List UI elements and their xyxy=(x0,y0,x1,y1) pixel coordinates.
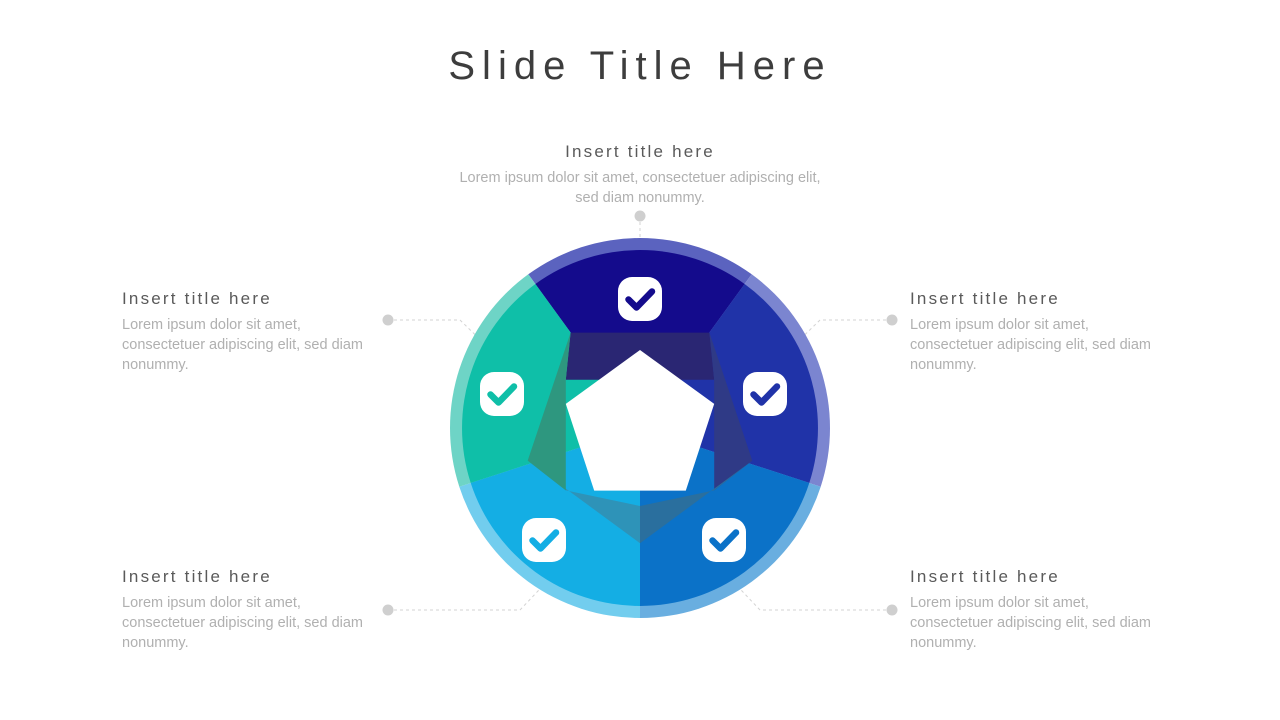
connector-dot-left-top xyxy=(383,315,394,326)
bevel-left xyxy=(528,333,571,491)
segment-top[interactable] xyxy=(535,250,744,428)
connector-line-left-top xyxy=(394,320,497,356)
page-title: Slide Title Here xyxy=(0,44,1280,89)
callout-left-bottom: Insert title here Lorem ipsum dolor sit … xyxy=(122,567,367,653)
callout-right-bottom-body: Lorem ipsum dolor sit amet, consectetuer… xyxy=(910,593,1160,653)
bevel-bottom-right xyxy=(640,461,752,544)
callout-left-top-title: Insert title here xyxy=(122,289,367,309)
inner-pentagon-hole xyxy=(566,350,714,491)
pie-segments xyxy=(462,250,818,606)
bevel-top xyxy=(566,333,714,380)
connector-dot-left-bottom xyxy=(383,605,394,616)
callout-left-bottom-title: Insert title here xyxy=(122,567,367,587)
icon-badge-bottom-right[interactable] xyxy=(702,518,746,562)
bevel-bottom-left xyxy=(528,461,640,544)
ring-right xyxy=(640,274,830,486)
outer-ring xyxy=(450,238,830,618)
ring-bottom-left xyxy=(459,428,640,618)
callout-top-title: Insert title here xyxy=(440,142,840,162)
connector-lines xyxy=(394,222,886,610)
callout-right-bottom-title: Insert title here xyxy=(910,567,1160,587)
inner-bevel xyxy=(528,333,753,544)
bevel-right xyxy=(709,333,752,491)
check-icon xyxy=(713,533,737,549)
connector-line-right-bottom xyxy=(724,572,886,610)
connector-dot-right-top xyxy=(887,315,898,326)
callout-left-top-body: Lorem ipsum dolor sit amet, consectetuer… xyxy=(122,315,367,375)
connector-line-left-bottom xyxy=(394,572,556,610)
check-icon xyxy=(533,533,557,549)
callout-right-top-title: Insert title here xyxy=(910,289,1160,309)
segment-right[interactable] xyxy=(640,284,818,483)
segment-bottom-left[interactable] xyxy=(471,428,640,606)
callout-top-body: Lorem ipsum dolor sit amet, consectetuer… xyxy=(440,168,840,208)
check-icon xyxy=(629,292,653,308)
segment-icons xyxy=(480,277,787,562)
connector-dots xyxy=(383,211,898,616)
segment-left[interactable] xyxy=(462,284,640,483)
callout-left-bottom-body: Lorem ipsum dolor sit amet, consectetuer… xyxy=(122,593,367,653)
icon-badge-left[interactable] xyxy=(480,372,524,416)
connector-dot-right-bottom xyxy=(887,605,898,616)
icon-badge-top[interactable] xyxy=(618,277,662,321)
callout-right-top: Insert title here Lorem ipsum dolor sit … xyxy=(910,289,1160,375)
callout-right-bottom: Insert title here Lorem ipsum dolor sit … xyxy=(910,567,1160,653)
callout-right-top-body: Lorem ipsum dolor sit amet, consectetuer… xyxy=(910,315,1160,375)
ring-top xyxy=(528,238,751,428)
callout-top: Insert title here Lorem ipsum dolor sit … xyxy=(440,142,840,208)
connector-dot-top xyxy=(635,211,646,222)
icon-badge-bottom-left[interactable] xyxy=(522,518,566,562)
icon-badge-right[interactable] xyxy=(743,372,787,416)
connector-line-right-top xyxy=(783,320,886,356)
ring-left xyxy=(450,274,640,486)
check-icon xyxy=(491,387,515,403)
ring-bottom-right xyxy=(640,428,821,618)
slide-canvas: Slide Title Here xyxy=(0,0,1280,720)
callout-left-top: Insert title here Lorem ipsum dolor sit … xyxy=(122,289,367,375)
segment-bottom-right[interactable] xyxy=(640,428,809,606)
check-icon xyxy=(754,387,778,403)
